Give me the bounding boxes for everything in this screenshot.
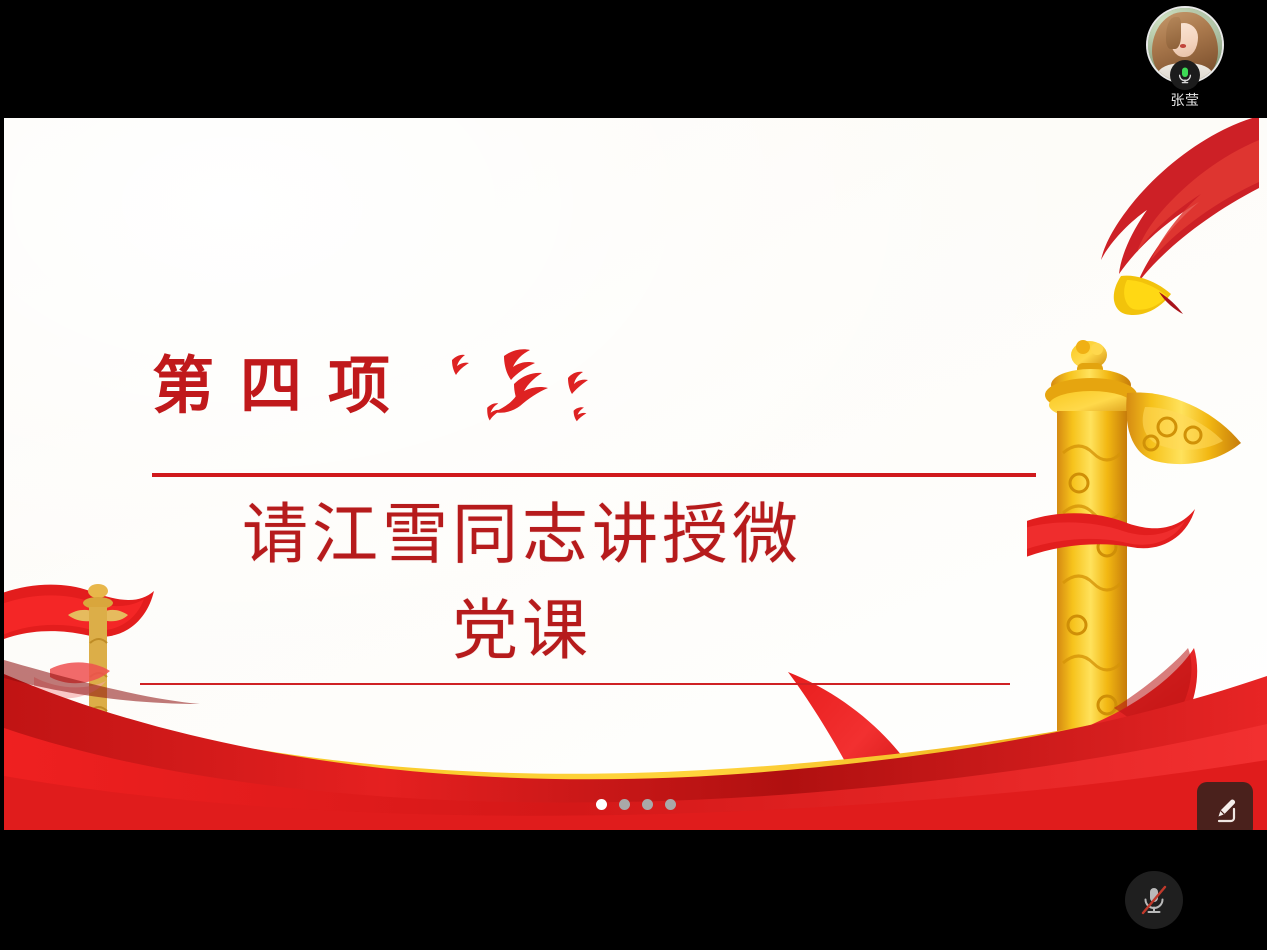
participant-name: 张莹 <box>1171 92 1200 108</box>
mic-mute-button[interactable] <box>1125 871 1183 929</box>
pencil-annotate-icon <box>1210 795 1240 825</box>
slide-content: 第四项 请江雪同志讲授微 党课 <box>4 118 1267 830</box>
divider-bottom <box>140 683 1010 685</box>
slide-pagination[interactable] <box>596 799 676 810</box>
slide-section-heading: 第四项 <box>152 352 416 422</box>
divider-top <box>152 473 1036 477</box>
participant-tile[interactable]: 张莹 <box>1125 2 1245 116</box>
pagination-dot-3[interactable] <box>642 799 653 810</box>
slide-title-line-1: 请江雪同志讲授微 <box>152 488 892 584</box>
pagination-dot-2[interactable] <box>619 799 630 810</box>
pagination-dot-1[interactable] <box>596 799 607 810</box>
slide-title-line-2: 党课 <box>152 584 892 680</box>
slide-title: 请江雪同志讲授微 党课 <box>152 488 892 680</box>
pagination-dot-4[interactable] <box>665 799 676 810</box>
participant-strip: 张莹 <box>0 0 1267 118</box>
flying-doves-icon <box>428 342 608 442</box>
microphone-active-icon <box>1170 60 1200 90</box>
microphone-muted-icon <box>1139 884 1169 916</box>
bottom-toolbar <box>0 830 1267 950</box>
meeting-screen: 张莹 <box>0 0 1267 950</box>
avatar-wrapper <box>1146 6 1224 84</box>
presentation-slide[interactable]: 第四项 请江雪同志讲授微 党课 <box>4 118 1267 830</box>
